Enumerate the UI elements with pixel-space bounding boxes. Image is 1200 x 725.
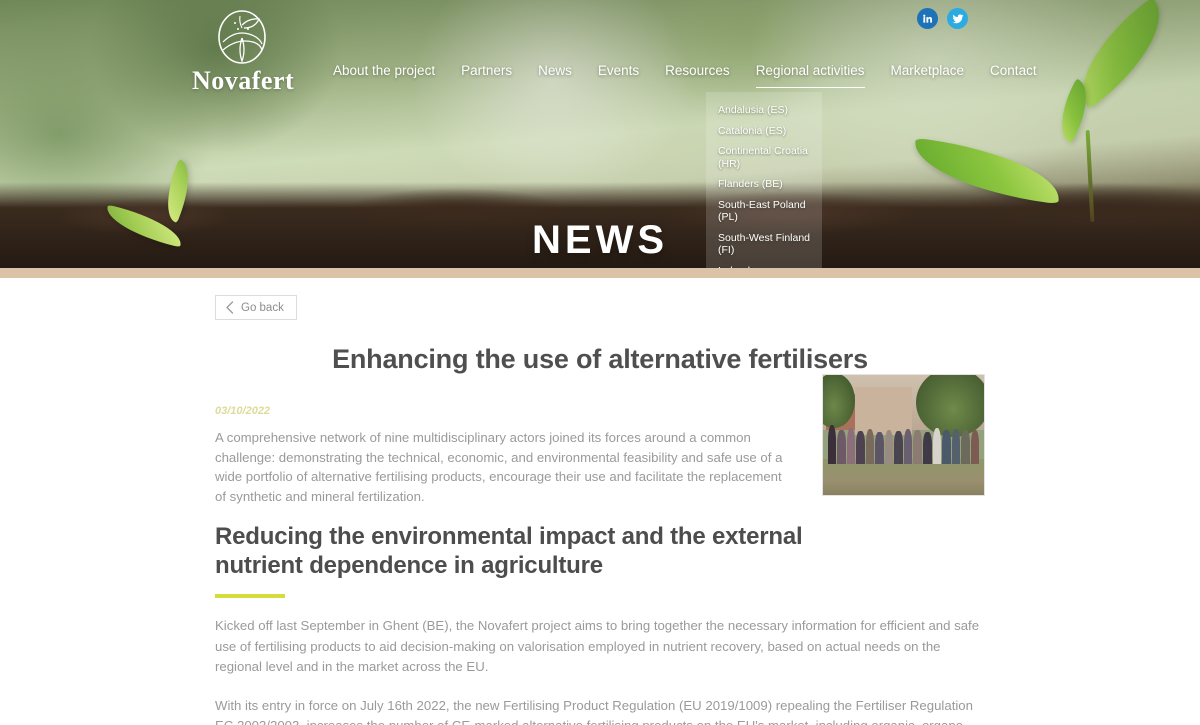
social-links	[917, 8, 968, 29]
nav-item-news[interactable]: News	[525, 62, 585, 80]
nav-item-marketplace[interactable]: Marketplace	[878, 62, 978, 80]
article-content: Go back Enhancing the use of alternative…	[0, 278, 1200, 725]
nav-item-about[interactable]: About the project	[320, 62, 448, 80]
hero-page-title: NEWS	[0, 218, 1200, 263]
page-root: Novafert About the project Partners News…	[0, 0, 1200, 725]
article-subheading: Reducing the environmental impact and th…	[215, 522, 805, 580]
accent-rule	[215, 594, 285, 598]
leaf-field-circle-logo-icon	[215, 8, 269, 66]
dropdown-item-andalusia[interactable]: Andalusia (ES)	[706, 100, 822, 121]
go-back-button[interactable]: Go back	[215, 295, 297, 320]
article-paragraph-2: With its entry in force on July 16th 202…	[215, 696, 983, 725]
dropdown-item-continental-croatia[interactable]: Continental Croatia (HR)	[706, 141, 822, 174]
linkedin-icon[interactable]	[917, 8, 938, 29]
nav-item-contact[interactable]: Contact	[977, 62, 1050, 80]
regional-activities-dropdown: Andalusia (ES) Catalonia (ES) Continenta…	[706, 92, 822, 268]
article-photo	[822, 374, 985, 496]
main-navigation: About the project Partners News Events R…	[320, 62, 1050, 80]
dropdown-item-south-east-poland[interactable]: South-East Poland (PL)	[706, 195, 822, 228]
go-back-label: Go back	[241, 302, 284, 314]
dropdown-item-catalonia[interactable]: Catalonia (ES)	[706, 121, 822, 142]
article-lede: A comprehensive network of nine multidis…	[215, 428, 783, 506]
site-brand[interactable]: Novafert	[192, 8, 292, 94]
page-title: Enhancing the use of alternative fertili…	[215, 344, 985, 375]
group-photo-project-partners-icon	[823, 375, 984, 495]
twitter-icon[interactable]	[947, 8, 968, 29]
chevron-left-icon	[225, 301, 234, 314]
section-divider-stripe	[0, 268, 1200, 278]
nav-item-resources[interactable]: Resources	[652, 62, 743, 80]
dropdown-item-south-west-finland[interactable]: South-West Finland (FI)	[706, 228, 822, 261]
content-wrapper: Go back Enhancing the use of alternative…	[215, 278, 985, 725]
nav-item-events[interactable]: Events	[585, 62, 652, 80]
nav-item-regional-activities[interactable]: Regional activities	[743, 62, 878, 80]
nav-item-partners[interactable]: Partners	[448, 62, 525, 80]
hero-banner: Novafert About the project Partners News…	[0, 0, 1200, 268]
dropdown-item-flanders[interactable]: Flanders (BE)	[706, 174, 822, 195]
brand-name: Novafert	[192, 68, 292, 94]
dropdown-item-ireland[interactable]: Ireland	[706, 261, 822, 269]
article-paragraph-1: Kicked off last September in Ghent (BE),…	[215, 616, 983, 678]
